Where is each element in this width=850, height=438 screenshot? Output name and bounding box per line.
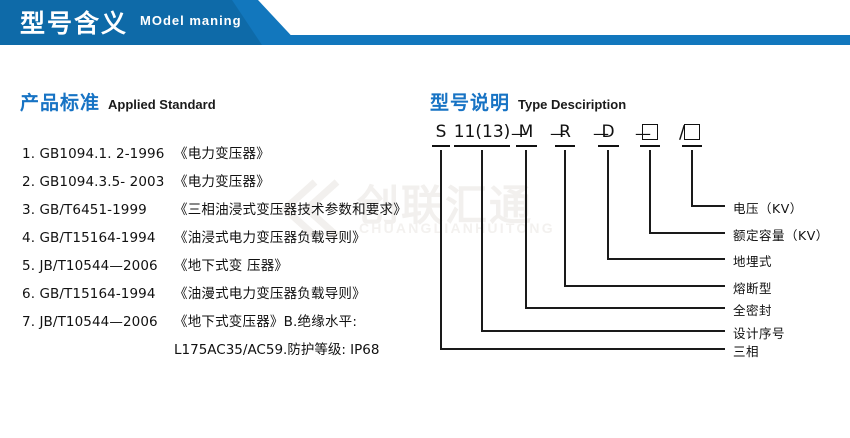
- leader-line-vertical: [649, 150, 651, 234]
- type-code-string: S11(13)—M—R—D—/: [425, 118, 725, 152]
- standard-title: 《电力变压器》: [174, 142, 270, 162]
- leader-line-vertical: [607, 150, 609, 260]
- standard-code: 7. JB/T10544—2006: [22, 314, 174, 330]
- standard-code: 2. GB1094.3.5- 2003: [22, 174, 174, 190]
- type-code-diagram: S11(13)—M—R—D—/ 电压（KV）额定容量（KV）地埋式熔断型全密封设…: [425, 118, 850, 378]
- section-heading-left-cn: 产品标准: [20, 92, 100, 114]
- standard-list-item: 4. GB/T15164-1994《油浸式电力变压器负载导则》: [22, 226, 422, 254]
- callout-label: 额定容量（KV）: [733, 225, 829, 244]
- leader-line-horizontal: [440, 348, 725, 350]
- code-segment-underline: [432, 145, 450, 147]
- leader-line-horizontal: [691, 205, 725, 207]
- leader-line-horizontal: [525, 307, 725, 309]
- standard-title: 《三相油浸式变压器技术参数和要求》: [174, 198, 407, 218]
- section-heading-applied-standard: 产品标准Applied Standard: [20, 88, 216, 115]
- standard-title: 《油浸式电力变压器负载导则》: [174, 226, 366, 246]
- code-segment-underline: [454, 145, 510, 147]
- standard-code: 6. GB/T15164-1994: [22, 286, 174, 302]
- leader-line-horizontal: [607, 258, 725, 260]
- code-segment-underline: [640, 145, 660, 147]
- code-segment-underline: [516, 145, 537, 147]
- applied-standards-list: 1. GB1094.1. 2-1996《电力变压器》2. GB1094.3.5-…: [22, 142, 422, 366]
- standard-code: 5. JB/T10544—2006: [22, 258, 174, 274]
- callout-label: 三相: [733, 341, 759, 360]
- standard-code: 1. GB1094.1. 2-1996: [22, 146, 174, 162]
- leader-line-horizontal: [481, 330, 725, 332]
- standard-title: 《地下式变压器》B.绝缘水平:: [174, 310, 357, 330]
- code-segment-underline: [598, 145, 619, 147]
- callout-label: 地埋式: [733, 251, 772, 270]
- callout-label: 熔断型: [733, 278, 772, 297]
- code-blank-box: [642, 124, 658, 140]
- section-heading-left-en: Applied Standard: [108, 97, 216, 112]
- standard-title: 《电力变压器》: [174, 170, 270, 190]
- code-segment: R: [553, 122, 577, 142]
- callout-label: 设计序号: [733, 323, 785, 342]
- section-heading-right-en: Type Desciription: [518, 97, 626, 112]
- standard-list-item: 2. GB1094.3.5- 2003《电力变压器》: [22, 170, 422, 198]
- standard-list-item: 1. GB1094.1. 2-1996《电力变压器》: [22, 142, 422, 170]
- leader-line-horizontal: [564, 285, 725, 287]
- standard-list-item: 5. JB/T10544—2006《地下式变 压器》: [22, 254, 422, 282]
- page-header-banner: 型号含义 MOdel maning: [0, 0, 850, 52]
- standard-list-item: 6. GB/T15164-1994《油漫式电力变压器负载导则》: [22, 282, 422, 310]
- callout-label: 全密封: [733, 300, 772, 319]
- code-segment: 11(13): [452, 122, 512, 142]
- section-heading-right-cn: 型号说明: [430, 92, 510, 114]
- callout-label: 电压（KV）: [733, 198, 803, 217]
- code-segment: D: [596, 122, 621, 142]
- code-segment: M: [514, 122, 539, 142]
- code-blank-box: [684, 124, 700, 140]
- standard-title: 《油漫式电力变压器负载导则》: [174, 282, 366, 302]
- banner-title-cn: 型号含义: [20, 4, 128, 40]
- standard-code: 4. GB/T15164-1994: [22, 230, 174, 246]
- standard-list-item: 7. JB/T10544—2006《地下式变压器》B.绝缘水平:: [22, 310, 422, 338]
- standard-continuation-line: L175AC35/AC59.防护等级: IP68: [22, 338, 422, 366]
- leader-line-vertical: [525, 150, 527, 309]
- standard-title: 《地下式变 压器》: [174, 254, 288, 274]
- leader-line-horizontal: [649, 232, 725, 234]
- code-segment: S: [430, 122, 452, 142]
- section-heading-type-description: 型号说明Type Desciription: [430, 88, 626, 115]
- standard-code: 3. GB/T6451-1999: [22, 202, 174, 218]
- code-segment-underline: [555, 145, 575, 147]
- code-segment-underline: [682, 145, 702, 147]
- leader-line-vertical: [440, 150, 442, 350]
- leader-line-vertical: [564, 150, 566, 287]
- banner-title-en: MOdel maning: [140, 13, 242, 28]
- standard-list-item: 3. GB/T6451-1999《三相油浸式变压器技术参数和要求》: [22, 198, 422, 226]
- page-root: 型号含义 MOdel maning 产品标准Applied Standard 型…: [0, 0, 850, 438]
- leader-line-vertical: [481, 150, 483, 332]
- leader-line-vertical: [691, 150, 693, 207]
